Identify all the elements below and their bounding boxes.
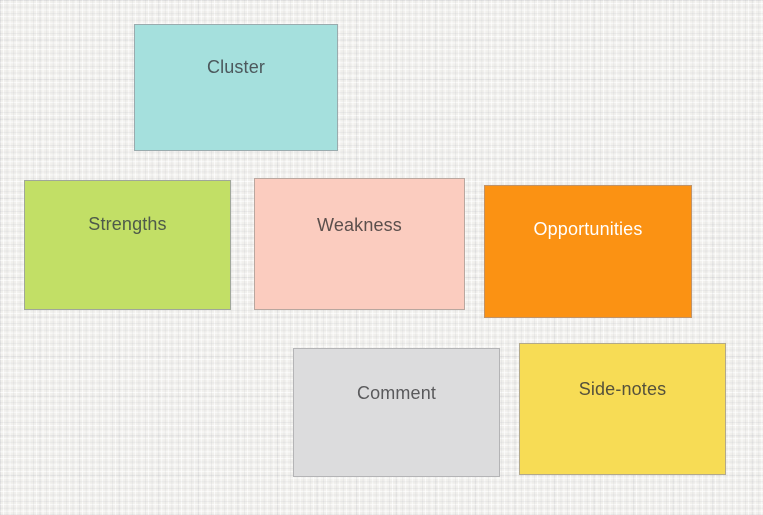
- note-card-strengths[interactable]: Strengths: [24, 180, 231, 310]
- sticky-note-board[interactable]: ClusterStrengthsWeaknessOpportunitiesCom…: [0, 0, 763, 515]
- note-label-side-notes: Side-notes: [579, 380, 667, 474]
- note-label-strengths: Strengths: [88, 215, 166, 309]
- note-card-comment[interactable]: Comment: [293, 348, 500, 477]
- note-label-cluster: Cluster: [207, 58, 265, 150]
- note-card-side-notes[interactable]: Side-notes: [519, 343, 726, 475]
- note-card-opportunities[interactable]: Opportunities: [484, 185, 692, 318]
- note-label-opportunities: Opportunities: [533, 220, 642, 317]
- note-label-comment: Comment: [357, 384, 436, 476]
- note-card-cluster[interactable]: Cluster: [134, 24, 338, 151]
- note-card-weakness[interactable]: Weakness: [254, 178, 465, 310]
- note-label-weakness: Weakness: [317, 216, 402, 309]
